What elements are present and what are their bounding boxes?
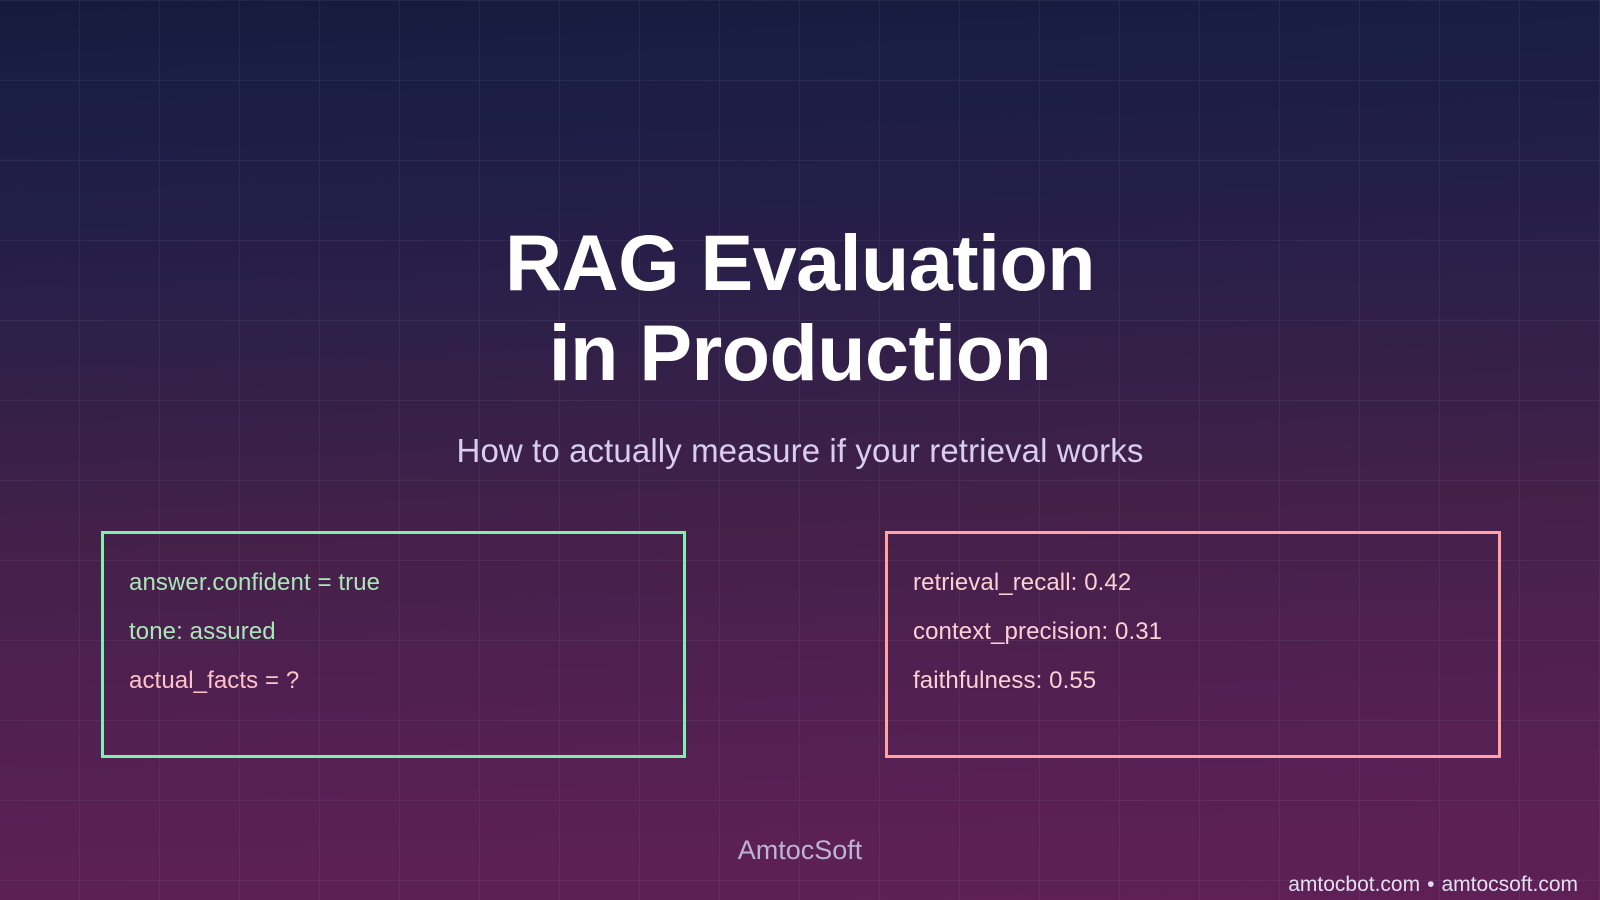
slide-canvas: RAG Evaluation in Production How to actu… <box>0 0 1600 900</box>
attribution-separator: • <box>1420 873 1441 896</box>
title-line-2: in Production <box>0 308 1600 398</box>
page-title: RAG Evaluation in Production <box>0 218 1600 398</box>
attribution: amtocbot.com•amtocsoft.com <box>1265 846 1578 900</box>
code-line: context_precision: 0.31 <box>913 607 1488 656</box>
code-panel-left-lines: answer.confident = true tone: assured ac… <box>129 558 673 705</box>
code-line: retrieval_recall: 0.42 <box>913 558 1488 607</box>
title-line-1: RAG Evaluation <box>0 218 1600 308</box>
code-panel-right: retrieval_recall: 0.42 context_precision… <box>885 531 1501 758</box>
code-panel-right-lines: retrieval_recall: 0.42 context_precision… <box>913 558 1488 705</box>
code-line: tone: assured <box>129 607 673 656</box>
attribution-site-secondary: amtocsoft.com <box>1441 873 1578 896</box>
code-panel-left: answer.confident = true tone: assured ac… <box>101 531 686 758</box>
code-line: faithfulness: 0.55 <box>913 656 1488 705</box>
page-subtitle: How to actually measure if your retrieva… <box>0 429 1600 473</box>
code-line: actual_facts = ? <box>129 656 673 705</box>
attribution-site-primary: amtocbot.com <box>1288 873 1420 896</box>
code-line: answer.confident = true <box>129 558 673 607</box>
